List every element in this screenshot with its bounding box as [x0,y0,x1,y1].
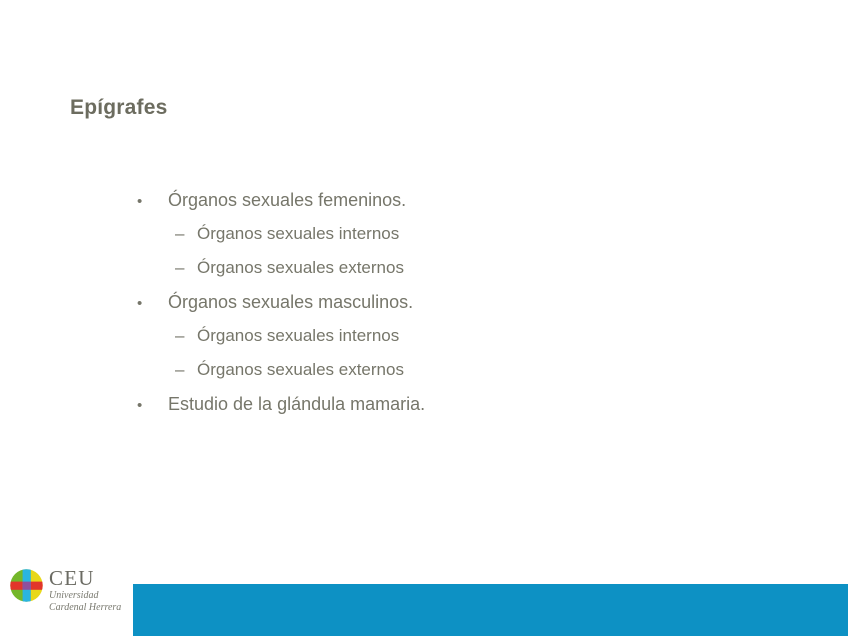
bullet-dot-icon: • [133,295,168,312]
bullet-dash-icon: – [175,258,197,278]
footer-bar [133,584,848,636]
bullet-text: Órganos sexuales femeninos. [168,190,406,211]
ceu-acronym: CEU [49,567,133,590]
bullet-text: Órganos sexuales externos [197,360,404,380]
bullet-item: –Órganos sexuales externos [133,258,753,292]
bullet-dash-icon: – [175,326,197,346]
bullet-text: Órganos sexuales internos [197,326,399,346]
bullet-item: –Órganos sexuales internos [133,326,753,360]
bullet-list: •Órganos sexuales femeninos.–Órganos sex… [133,190,753,428]
bullet-text: Órganos sexuales internos [197,224,399,244]
presentation-slide: Epígrafes •Órganos sexuales femeninos.–Ó… [0,0,848,636]
bullet-text: Órganos sexuales externos [197,258,404,278]
page-title: Epígrafes [70,96,168,120]
bullet-item: –Órganos sexuales externos [133,360,753,394]
bullet-dash-icon: – [175,360,197,380]
bullet-item: •Órganos sexuales femeninos. [133,190,753,224]
bullet-text: Órganos sexuales masculinos. [168,292,413,313]
ceu-logo: CEU Universidad Cardenal Herrera [8,565,130,627]
bullet-item: –Órganos sexuales internos [133,224,753,258]
bullet-dash-icon: – [175,224,197,244]
bullet-text: Estudio de la glándula mamaria. [168,394,425,415]
bullet-item: •Órganos sexuales masculinos. [133,292,753,326]
bullet-item: •Estudio de la glándula mamaria. [133,394,753,428]
bullet-dot-icon: • [133,397,168,414]
ceu-line1: Universidad [49,590,133,602]
ceu-logo-text: CEU Universidad Cardenal Herrera [49,567,133,614]
bullet-dot-icon: • [133,193,168,210]
ceu-line2: Cardenal Herrera [49,602,133,614]
ceu-cross-circle-icon [10,569,43,602]
